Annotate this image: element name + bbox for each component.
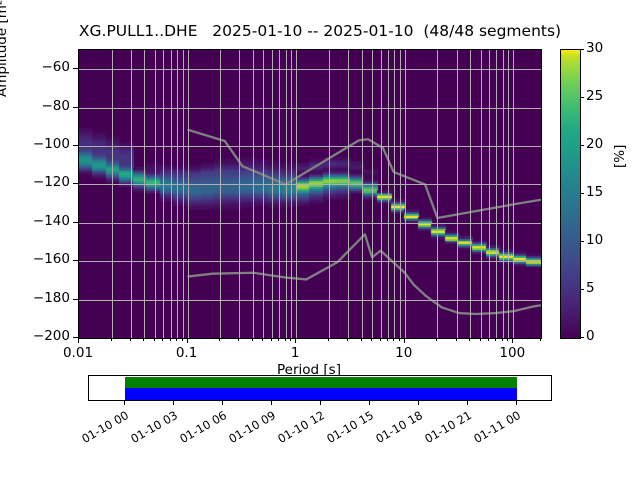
grid-lines [79, 50, 541, 338]
ppsd-axes [78, 49, 542, 339]
grid-line-vertical [296, 50, 297, 338]
x-tick-label: 0.01 [28, 345, 128, 361]
grid-line-horizontal [79, 108, 541, 109]
grid-line-horizontal [79, 184, 541, 185]
grid-line-vertical [131, 50, 132, 338]
grid-line-vertical [457, 50, 458, 338]
timeline-tick-label: 01-10 03 [119, 408, 180, 451]
y-tick-label: −160 [0, 251, 70, 267]
timeline-tick [467, 401, 468, 405]
grid-line-horizontal [79, 300, 541, 301]
timeline-tick-label: 01-10 06 [168, 408, 229, 451]
grid-line-vertical [496, 50, 497, 338]
ppsd-plot-figure: XG.PULL1..DHE 2025-01-10 -- 2025-01-10 (… [0, 0, 640, 480]
grid-line-vertical [286, 50, 287, 338]
grid-line-vertical [253, 50, 254, 338]
colorbar-tick-label: 30 [586, 40, 603, 56]
colorbar-label: [%] [612, 145, 628, 168]
grid-line-vertical [437, 50, 438, 338]
grid-line-vertical [163, 50, 164, 338]
timeline-tick [173, 401, 174, 405]
grid-line-vertical [263, 50, 264, 338]
grid-line-vertical [362, 50, 363, 338]
timeline-bar-data-coverage [125, 377, 517, 388]
timeline-tick-label: 01-10 18 [364, 408, 425, 451]
timeline-tick-label: 01-10 09 [217, 408, 278, 451]
grid-line-horizontal [79, 69, 541, 70]
x-tick-label: 100 [462, 345, 562, 361]
y-axis-label-text: Amplitude [m²/s⁴/Hz] [dB] [0, 0, 10, 97]
colorbar-tick-label: 10 [586, 232, 603, 248]
colorbar-tick-label: 20 [586, 136, 603, 152]
grid-line-vertical [481, 50, 482, 338]
grid-line-vertical [508, 50, 509, 338]
grid-line-vertical [405, 50, 406, 338]
grid-line-vertical [291, 50, 292, 338]
grid-line-vertical [394, 50, 395, 338]
grid-line-vertical [171, 50, 172, 338]
y-tick-label: −120 [0, 174, 70, 190]
timeline-tick [516, 401, 517, 405]
grid-line-vertical [183, 50, 184, 338]
grid-line-vertical [188, 50, 189, 338]
colorbar-tick-label: 25 [586, 88, 603, 104]
grid-line-vertical [272, 50, 273, 338]
grid-line-vertical [489, 50, 490, 338]
grid-line-vertical [177, 50, 178, 338]
grid-line-vertical [239, 50, 240, 338]
timeline-tick [418, 401, 419, 405]
grid-line-vertical [279, 50, 280, 338]
grid-line-vertical [388, 50, 389, 338]
timeline-bar-psd-coverage [125, 388, 517, 400]
grid-line-vertical [112, 50, 113, 338]
timeline-tick-label: 01-10 12 [266, 408, 327, 451]
grid-line-vertical [381, 50, 382, 338]
timeline-tick [369, 401, 370, 405]
grid-line-vertical [155, 50, 156, 338]
timeline-tick [271, 401, 272, 405]
y-axis-label: Amplitude [m²/s⁴/Hz] [dB] [0, 0, 10, 120]
colorbar-tick-label: 0 [586, 328, 595, 344]
timeline-tick [124, 401, 125, 405]
y-tick-label: −140 [0, 213, 70, 229]
timeline-tick-label: 01-10 15 [315, 408, 376, 451]
timeline-tick-label: 01-10 21 [413, 408, 474, 451]
y-tick-label: −60 [0, 59, 70, 75]
grid-line-vertical [513, 50, 514, 338]
grid-line-vertical [329, 50, 330, 338]
timeline-axes[interactable] [88, 375, 552, 401]
x-tick-label: 0.1 [137, 345, 237, 361]
grid-line-vertical [372, 50, 373, 338]
colorbar-tick-label: 5 [586, 280, 595, 296]
x-tick-label: 1 [245, 345, 345, 361]
y-tick-label: −100 [0, 136, 70, 152]
x-tick-label: 10 [354, 345, 454, 361]
grid-line-horizontal [79, 223, 541, 224]
grid-line-vertical [220, 50, 221, 338]
ppsd-density-canvas [79, 50, 541, 338]
timeline-tick [222, 401, 223, 405]
grid-line-vertical [348, 50, 349, 338]
colorbar-tick-label: 15 [586, 184, 603, 200]
timeline-tick-label: 01-11 00 [462, 408, 523, 451]
grid-line-vertical [470, 50, 471, 338]
grid-line-vertical [503, 50, 504, 338]
timeline-tick [320, 401, 321, 405]
grid-line-horizontal [79, 261, 541, 262]
y-tick-label: −180 [0, 290, 70, 306]
grid-line-vertical [144, 50, 145, 338]
grid-line-horizontal [79, 146, 541, 147]
y-tick-label: −200 [0, 328, 70, 344]
y-tick-label: −80 [0, 98, 70, 114]
timeline-tick-label: 01-10 00 [70, 408, 131, 451]
grid-line-vertical [400, 50, 401, 338]
page-title: XG.PULL1..DHE 2025-01-10 -- 2025-01-10 (… [0, 22, 640, 40]
colorbar [560, 49, 581, 339]
